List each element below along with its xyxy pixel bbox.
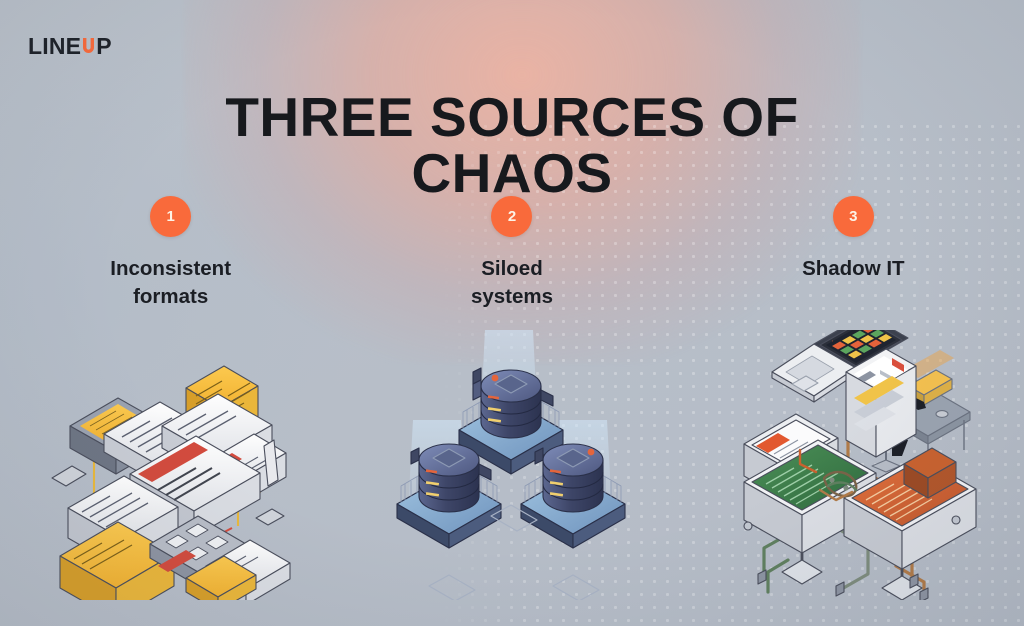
source-label-3: Shadow IT — [802, 255, 905, 283]
illustration-slot-2 — [341, 330, 682, 610]
illustration-slot-3 — [683, 330, 1024, 610]
illustration-row — [0, 330, 1024, 610]
brand-logo[interactable]: LINE P — [28, 33, 112, 60]
page-title-line-2: CHAOS — [0, 145, 1024, 202]
source-column-3: 3 Shadow IT — [683, 196, 1024, 312]
number-badge-1: 1 — [150, 196, 191, 237]
source-label-2: Siloed systems — [471, 255, 553, 312]
scattered-documents-illustration — [46, 330, 296, 600]
logo-text-before: LINE — [28, 33, 81, 60]
number-badge-2: 2 — [491, 196, 532, 237]
shadow-it-illustration — [728, 330, 978, 600]
source-column-1: 1 Inconsistent formats — [0, 196, 341, 312]
number-badge-3: 3 — [833, 196, 874, 237]
page-title-line-1: THREE SOURCES OF — [0, 89, 1024, 146]
source-columns: 1 Inconsistent formats 2 Siloed systems … — [0, 196, 1024, 312]
illustration-slot-1 — [0, 330, 341, 610]
source-column-2: 2 Siloed systems — [341, 196, 682, 312]
database-silos-illustration — [387, 330, 637, 600]
source-label-1: Inconsistent formats — [110, 255, 231, 312]
slide-canvas: LINE P THREE SOURCES OF CHAOS 1 Inconsis… — [0, 0, 1024, 626]
logo-text-after: P — [96, 33, 112, 60]
logo-u-accent-icon — [81, 38, 96, 55]
page-title: THREE SOURCES OF CHAOS — [0, 89, 1024, 202]
